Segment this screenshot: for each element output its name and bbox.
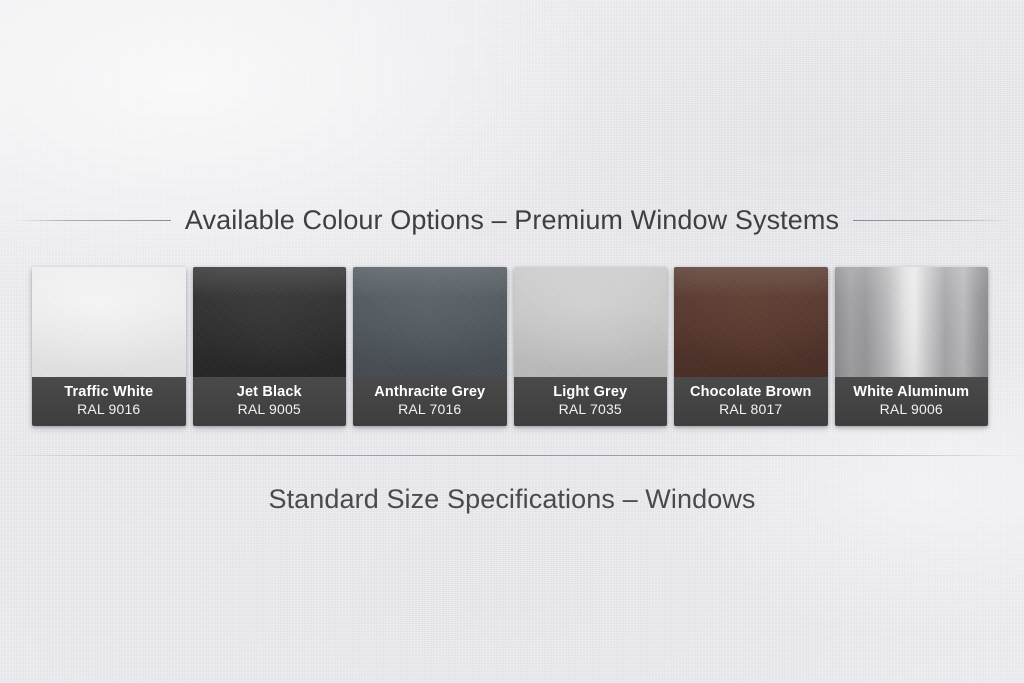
colour-chip [835,267,989,377]
swatch-ral-code: RAL 7035 [559,402,622,417]
divider-rule-right [853,220,1010,221]
colour-chip [32,267,186,377]
swatch-name: Light Grey [553,385,627,401]
divider-rule-left [14,220,171,221]
divider-rule-lower [0,455,1024,456]
colour-chip [674,267,828,377]
swatch-ral-code: RAL 8017 [719,402,782,417]
swatch-ral-code: RAL 9006 [880,402,943,417]
colour-swatch-white-aluminum[interactable]: White Aluminum RAL 9006 [835,267,989,426]
swatch-label-bar: Jet Black RAL 9005 [193,377,347,426]
colour-chip [353,267,507,377]
colour-options-heading-row: Available Colour Options – Premium Windo… [0,205,1024,236]
swatch-ral-code: RAL 9005 [238,402,301,417]
swatch-name: Chocolate Brown [690,385,811,401]
swatch-ral-code: RAL 9016 [77,402,140,417]
colour-swatch-anthracite-grey[interactable]: Anthracite Grey RAL 7016 [353,267,507,426]
swatch-label-bar: White Aluminum RAL 9006 [835,377,989,426]
swatch-name: Jet Black [237,385,302,401]
colour-swatch-light-grey[interactable]: Light Grey RAL 7035 [514,267,668,426]
swatch-name: White Aluminum [853,385,969,401]
swatch-label-bar: Light Grey RAL 7035 [514,377,668,426]
swatch-ral-code: RAL 7016 [398,402,461,417]
page-title: Available Colour Options – Premium Windo… [185,205,839,236]
colour-chip [514,267,668,377]
colour-swatch-jet-black[interactable]: Jet Black RAL 9005 [193,267,347,426]
colour-swatch-chocolate-brown[interactable]: Chocolate Brown RAL 8017 [674,267,828,426]
swatch-name: Traffic White [64,385,153,401]
size-specifications-title: Standard Size Specifications – Windows [0,484,1024,515]
swatch-label-bar: Traffic White RAL 9016 [32,377,186,426]
swatch-name: Anthracite Grey [374,385,485,401]
swatch-label-bar: Anthracite Grey RAL 7016 [353,377,507,426]
colour-chip [193,267,347,377]
colour-swatch-grid: Traffic White RAL 9016 Jet Black RAL 900… [32,267,988,426]
swatch-label-bar: Chocolate Brown RAL 8017 [674,377,828,426]
colour-swatch-traffic-white[interactable]: Traffic White RAL 9016 [32,267,186,426]
